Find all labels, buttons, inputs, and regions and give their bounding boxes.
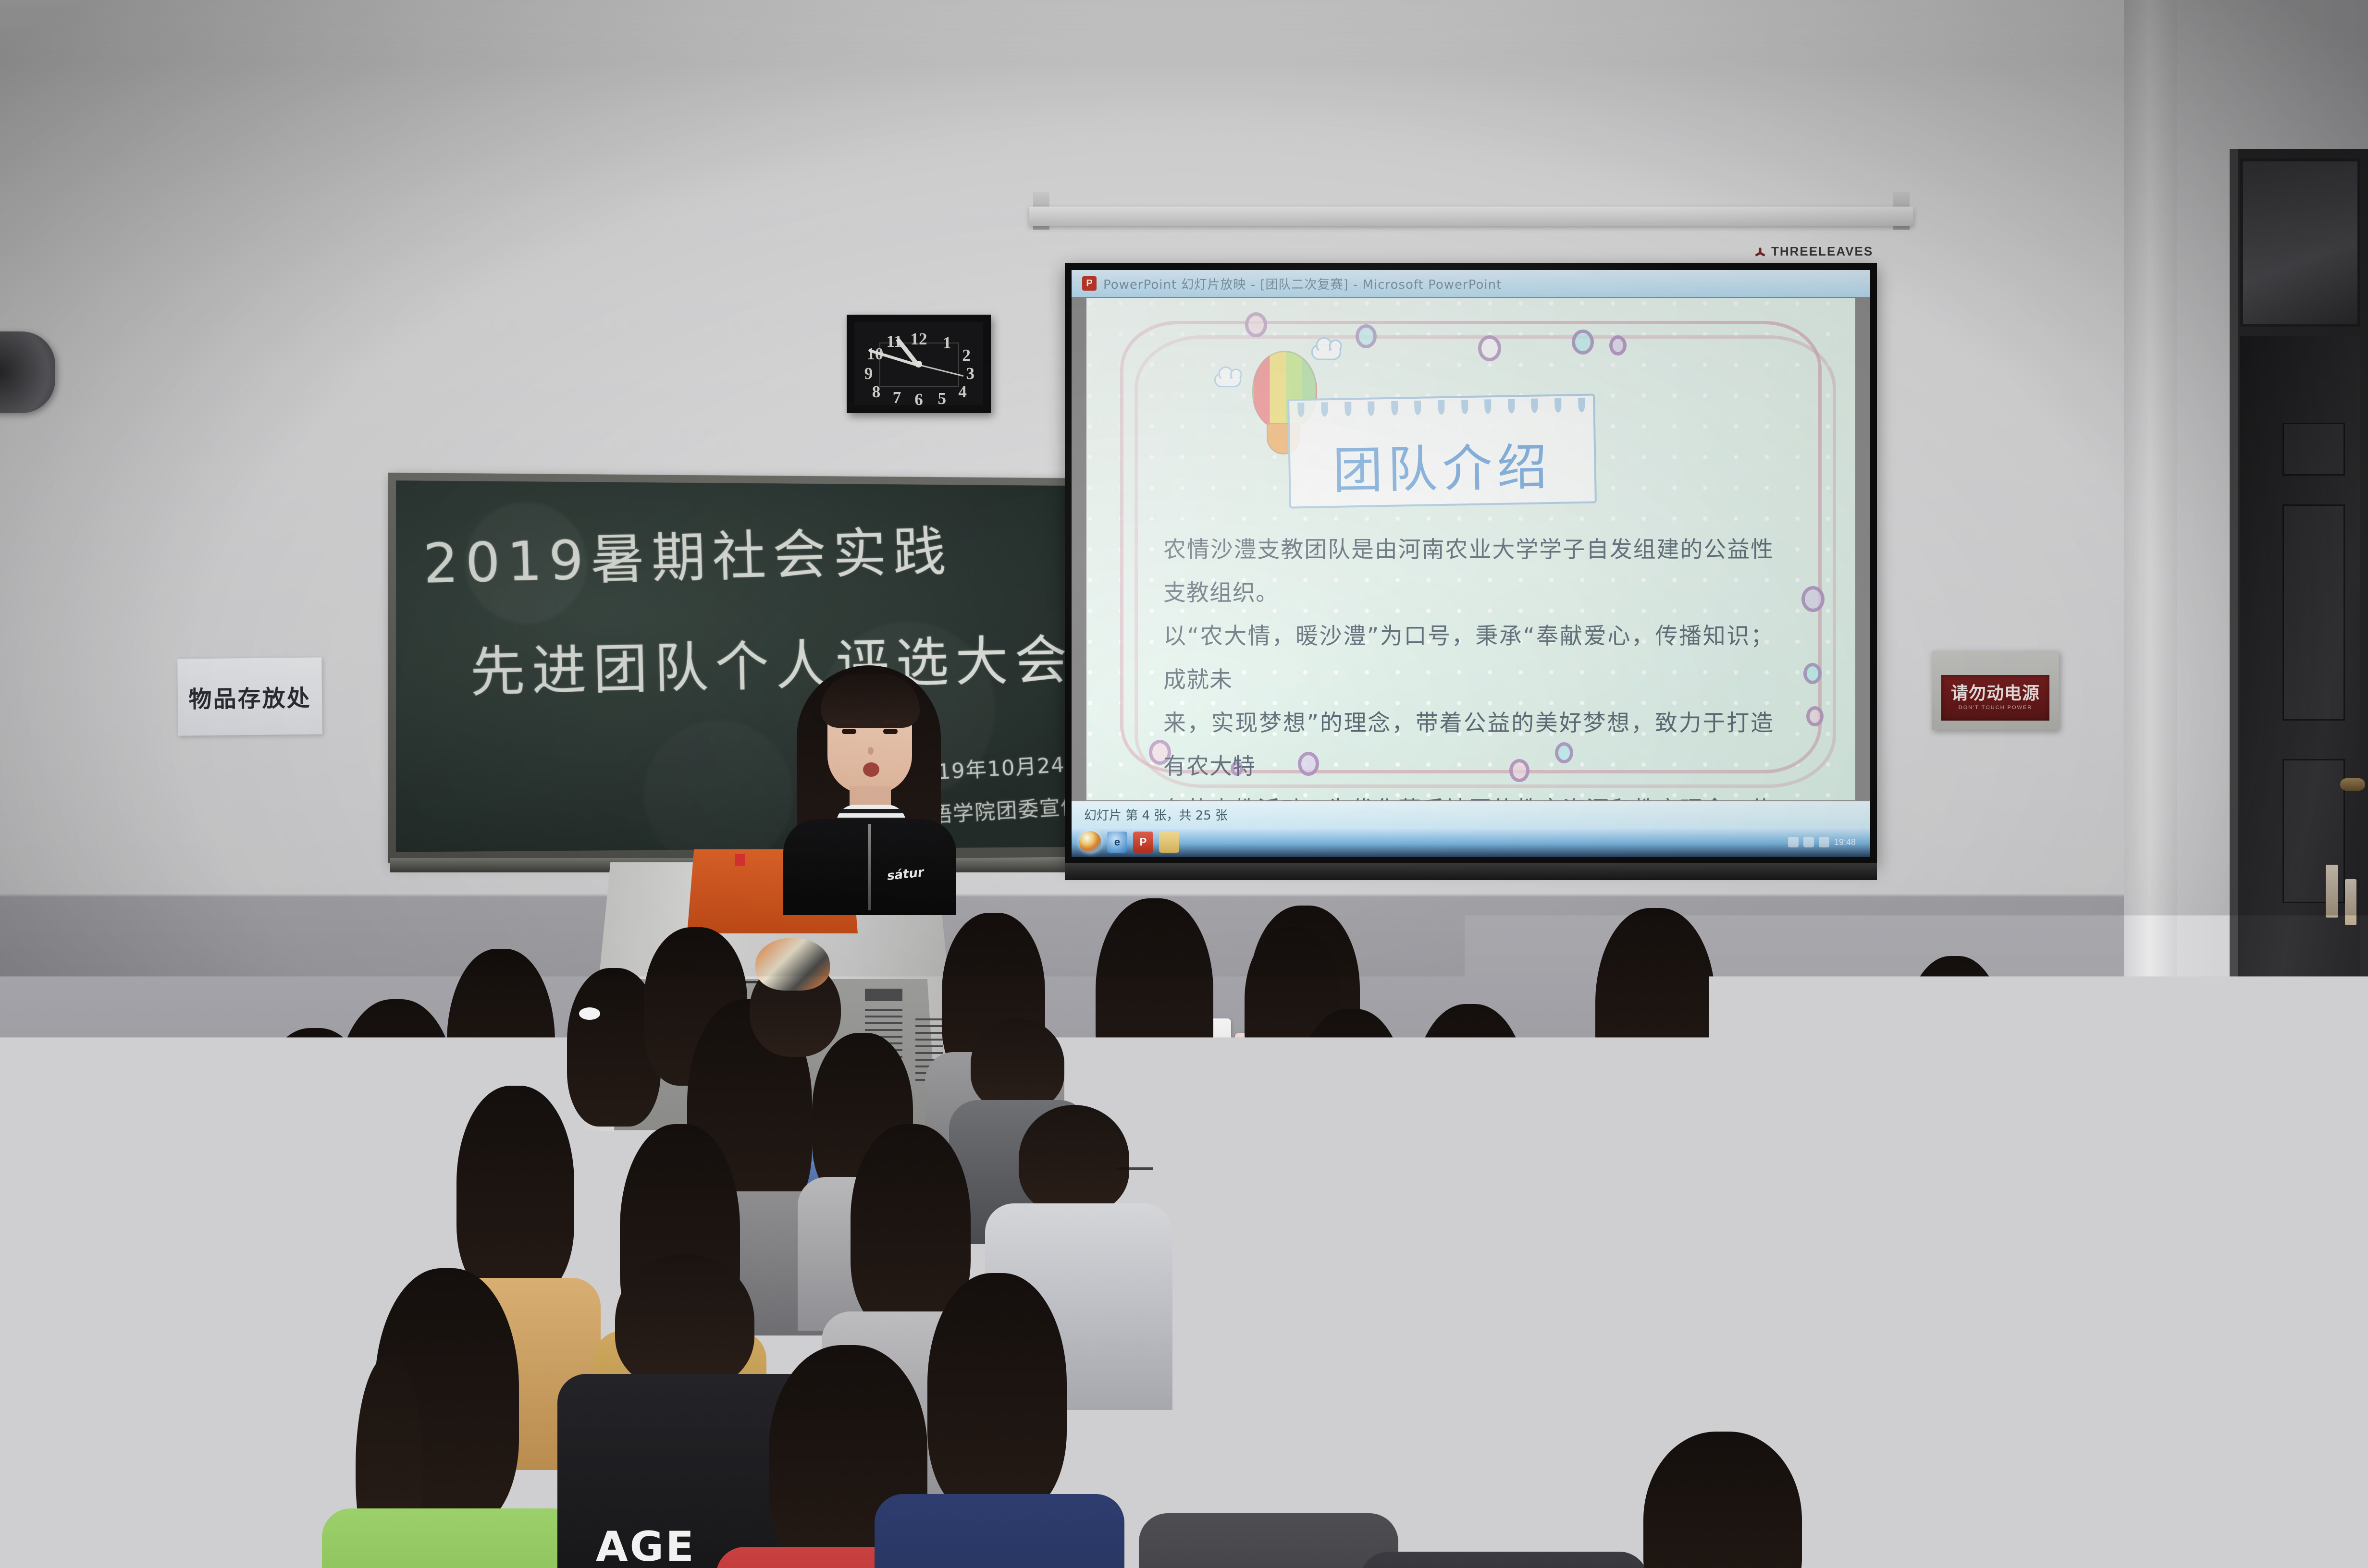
powerpoint-taskbar-icon[interactable]: P <box>1133 832 1153 853</box>
candle-1 <box>2326 865 2338 918</box>
head <box>82 1110 192 1220</box>
blackboard-headline-line1: 2019暑期社会实践 <box>422 508 953 599</box>
slide-counter-label: 幻灯片 第 4 张，共 25 张 <box>1084 806 1228 823</box>
clock-center-pin <box>915 361 922 367</box>
torso <box>875 1494 1124 1568</box>
clock-numeral-3: 3 <box>966 364 974 383</box>
decor-bubble-7 <box>1803 663 1822 684</box>
clock-numeral-7: 7 <box>893 388 901 407</box>
projector-brand-label: THREELEAVES <box>1771 244 1873 259</box>
folder-icon[interactable] <box>1159 832 1179 853</box>
clock-numeral-4: 4 <box>958 382 967 402</box>
projector-screen-housing <box>1029 207 1913 226</box>
door-transom-window <box>2240 159 2360 327</box>
wall-fan <box>0 331 55 413</box>
threeleaves-logo-icon <box>1754 246 1766 257</box>
torso <box>1139 1513 1398 1568</box>
presenter-eye-left <box>842 729 856 734</box>
desk-leg-cfa <box>1127 1446 1137 1568</box>
cup-on-desk-2 <box>1379 1422 1422 1475</box>
head <box>971 1018 1064 1110</box>
presenter-nose <box>868 747 874 755</box>
ceiling-shadow <box>0 0 2368 62</box>
lectern-indicator-light <box>735 854 745 866</box>
glasses-icon <box>1117 1167 1153 1174</box>
powerpoint-titlebar: P PowerPoint 幻灯片放映 - [团队二次复赛] - Microsof… <box>1072 270 1870 297</box>
torso <box>1360 1552 1648 1568</box>
candle-2 <box>2345 879 2356 925</box>
start-orb-icon[interactable] <box>1079 831 1101 853</box>
decor-bubble-6 <box>1801 586 1825 612</box>
projector-screen-brand: THREELEAVES <box>1754 244 1873 259</box>
tray-icon-1[interactable] <box>1788 837 1799 847</box>
windows-taskbar[interactable]: e P 19:48 <box>1072 827 1870 857</box>
hair <box>1422 1384 1586 1568</box>
decor-bubble-1 <box>1245 312 1267 337</box>
clock-numeral-12: 12 <box>911 330 927 349</box>
tray-icon-3[interactable] <box>1819 837 1829 847</box>
seat-r2[interactable] <box>1903 1211 2085 1316</box>
projector-screen-bottom-bar <box>1065 863 1877 880</box>
hair <box>1192 1287 1341 1537</box>
desk-leg-r3a <box>1874 1331 1885 1532</box>
water-bottle-4 <box>2278 1042 2311 1131</box>
hair <box>1903 956 2006 1148</box>
decor-cloud-2 <box>1214 373 1241 387</box>
presenter-eyebrow-left <box>840 720 858 723</box>
slide-body-line-1: 农情沙澧支教团队是由河南农业大学学子自发组建的公益性支教组织。 <box>1163 528 1774 615</box>
presenter-fringe <box>821 674 920 728</box>
head <box>1019 1105 1129 1213</box>
tray-icon-2[interactable] <box>1803 837 1814 847</box>
hair <box>255 1028 375 1239</box>
presenter: sátur <box>769 661 971 906</box>
raised-arm <box>0 1220 159 1364</box>
lectern-vent-2 <box>865 989 902 1001</box>
decor-bubble-2 <box>1356 324 1377 348</box>
projected-desktop: P PowerPoint 幻灯片放映 - [团队二次复赛] - Microsof… <box>1072 270 1870 857</box>
slide-body-line-2: 以“农大情，暖沙澧”为口号，秉承“奉献爱心，传播知识；成就未 <box>1163 615 1774 701</box>
clock-face: 12 1 2 3 4 5 6 7 8 9 10 11 <box>854 322 983 405</box>
presenter-jacket-zipper <box>868 824 871 910</box>
hair <box>927 1273 1067 1513</box>
slide-body-text: 农情沙澧支教团队是由河南农业大学学子自发组建的公益性支教组织。 以“农大情，暖沙… <box>1163 528 1774 800</box>
projector-screen: P PowerPoint 幻灯片放映 - [团队二次复赛] - Microsof… <box>1065 263 1877 864</box>
hair <box>2167 1004 2275 1206</box>
power-sign-label: 请勿动电源 <box>1951 685 2040 702</box>
system-tray[interactable]: 19:48 <box>1788 837 1870 847</box>
powerpoint-window-title: PowerPoint 幻灯片放映 - [团队二次复赛] - Microsoft … <box>1103 275 1502 293</box>
door-panel-top <box>2282 423 2345 476</box>
decor-bubble-8 <box>1806 706 1824 726</box>
decor-bubble-5 <box>1609 335 1627 355</box>
hair <box>1538 1071 1641 1249</box>
title-card-drip-border <box>1289 398 1593 426</box>
hair <box>1297 1009 1406 1196</box>
blackboard-frame: 2019暑期社会实践 先进团队个人评选大会 2019年10月24日 外国语学院团… <box>388 473 1108 863</box>
powerpoint-statusbar: 幻灯片 第 4 张，共 25 张 <box>1072 801 1870 827</box>
door-handle[interactable] <box>2340 778 2365 791</box>
clock-numeral-6: 6 <box>914 390 923 409</box>
internet-explorer-icon[interactable]: e <box>1107 832 1127 853</box>
storage-sign-label: 物品存放处 <box>188 679 311 714</box>
clock-numeral-8: 8 <box>872 382 881 402</box>
slide-body-line-3: 来，实现梦想”的理念，带着公益的美好梦想，致力于打造有农大特 <box>1163 702 1774 788</box>
clock-numeral-2: 2 <box>962 346 971 365</box>
storage-area-sign: 物品存放处 <box>177 657 322 735</box>
seat-c2[interactable] <box>1759 1187 1903 1273</box>
taskbar-clock: 19:48 <box>1834 837 1862 847</box>
seat-base-r2 <box>1898 1307 2076 1417</box>
hair <box>456 1086 574 1297</box>
presentation-slide: 团队介绍 农情沙澧支教团队是由河南农业大学学子自发组建的公益性支教组织。 以“农… <box>1086 298 1855 800</box>
head <box>615 1254 754 1388</box>
blackboard: 2019暑期社会实践 先进团队个人评选大会 2019年10月24日 外国语学院团… <box>396 480 1101 852</box>
clock-numeral-1: 1 <box>943 333 951 353</box>
do-not-touch-power-sign: 请勿动电源 DON'T TOUCH POWER <box>1941 675 2049 721</box>
slide-title: 团队介绍 <box>1290 425 1595 503</box>
right-wall-pilaster <box>2124 0 2182 1187</box>
slide-body-line-4: 色的支教活动，为优化落后地区的教育资源和教育理念，传播优秀文 <box>1163 788 1774 800</box>
powerpoint-workarea: 团队介绍 农情沙澧支教团队是由河南农业大学学子自发组建的公益性支教组织。 以“农… <box>1072 297 1870 801</box>
hair <box>1413 1004 1528 1206</box>
decor-bubble-4 <box>1572 330 1594 355</box>
hoodie-text: AGE <box>596 1523 696 1568</box>
clock-numeral-5: 5 <box>937 389 946 408</box>
presenter-mouth <box>863 762 879 777</box>
torso <box>322 1508 581 1568</box>
hair <box>2009 985 2121 1191</box>
hair <box>1096 898 1213 1100</box>
door-panel-middle <box>2282 504 2345 721</box>
plaid-headscarf <box>755 938 830 991</box>
power-sign-sublabel: DON'T TOUCH POWER <box>1959 705 2032 710</box>
wall-clock: 12 1 2 3 4 5 6 7 8 9 10 11 <box>847 315 991 413</box>
clock-numeral-9: 9 <box>864 364 873 383</box>
presenter-eye-right <box>883 729 898 734</box>
presenter-eyebrow-right <box>882 720 899 723</box>
decor-bubble-3 <box>1478 335 1501 361</box>
hair-clip <box>579 1007 600 1020</box>
seat-r3[interactable] <box>2114 1230 2273 1326</box>
classroom-photo: 物品存放处 请勿动电源 DON'T TOUCH POWER 12 1 2 3 4… <box>0 0 2368 1568</box>
slide-title-card: 团队介绍 <box>1287 393 1597 508</box>
powerpoint-icon: P <box>1082 276 1097 291</box>
